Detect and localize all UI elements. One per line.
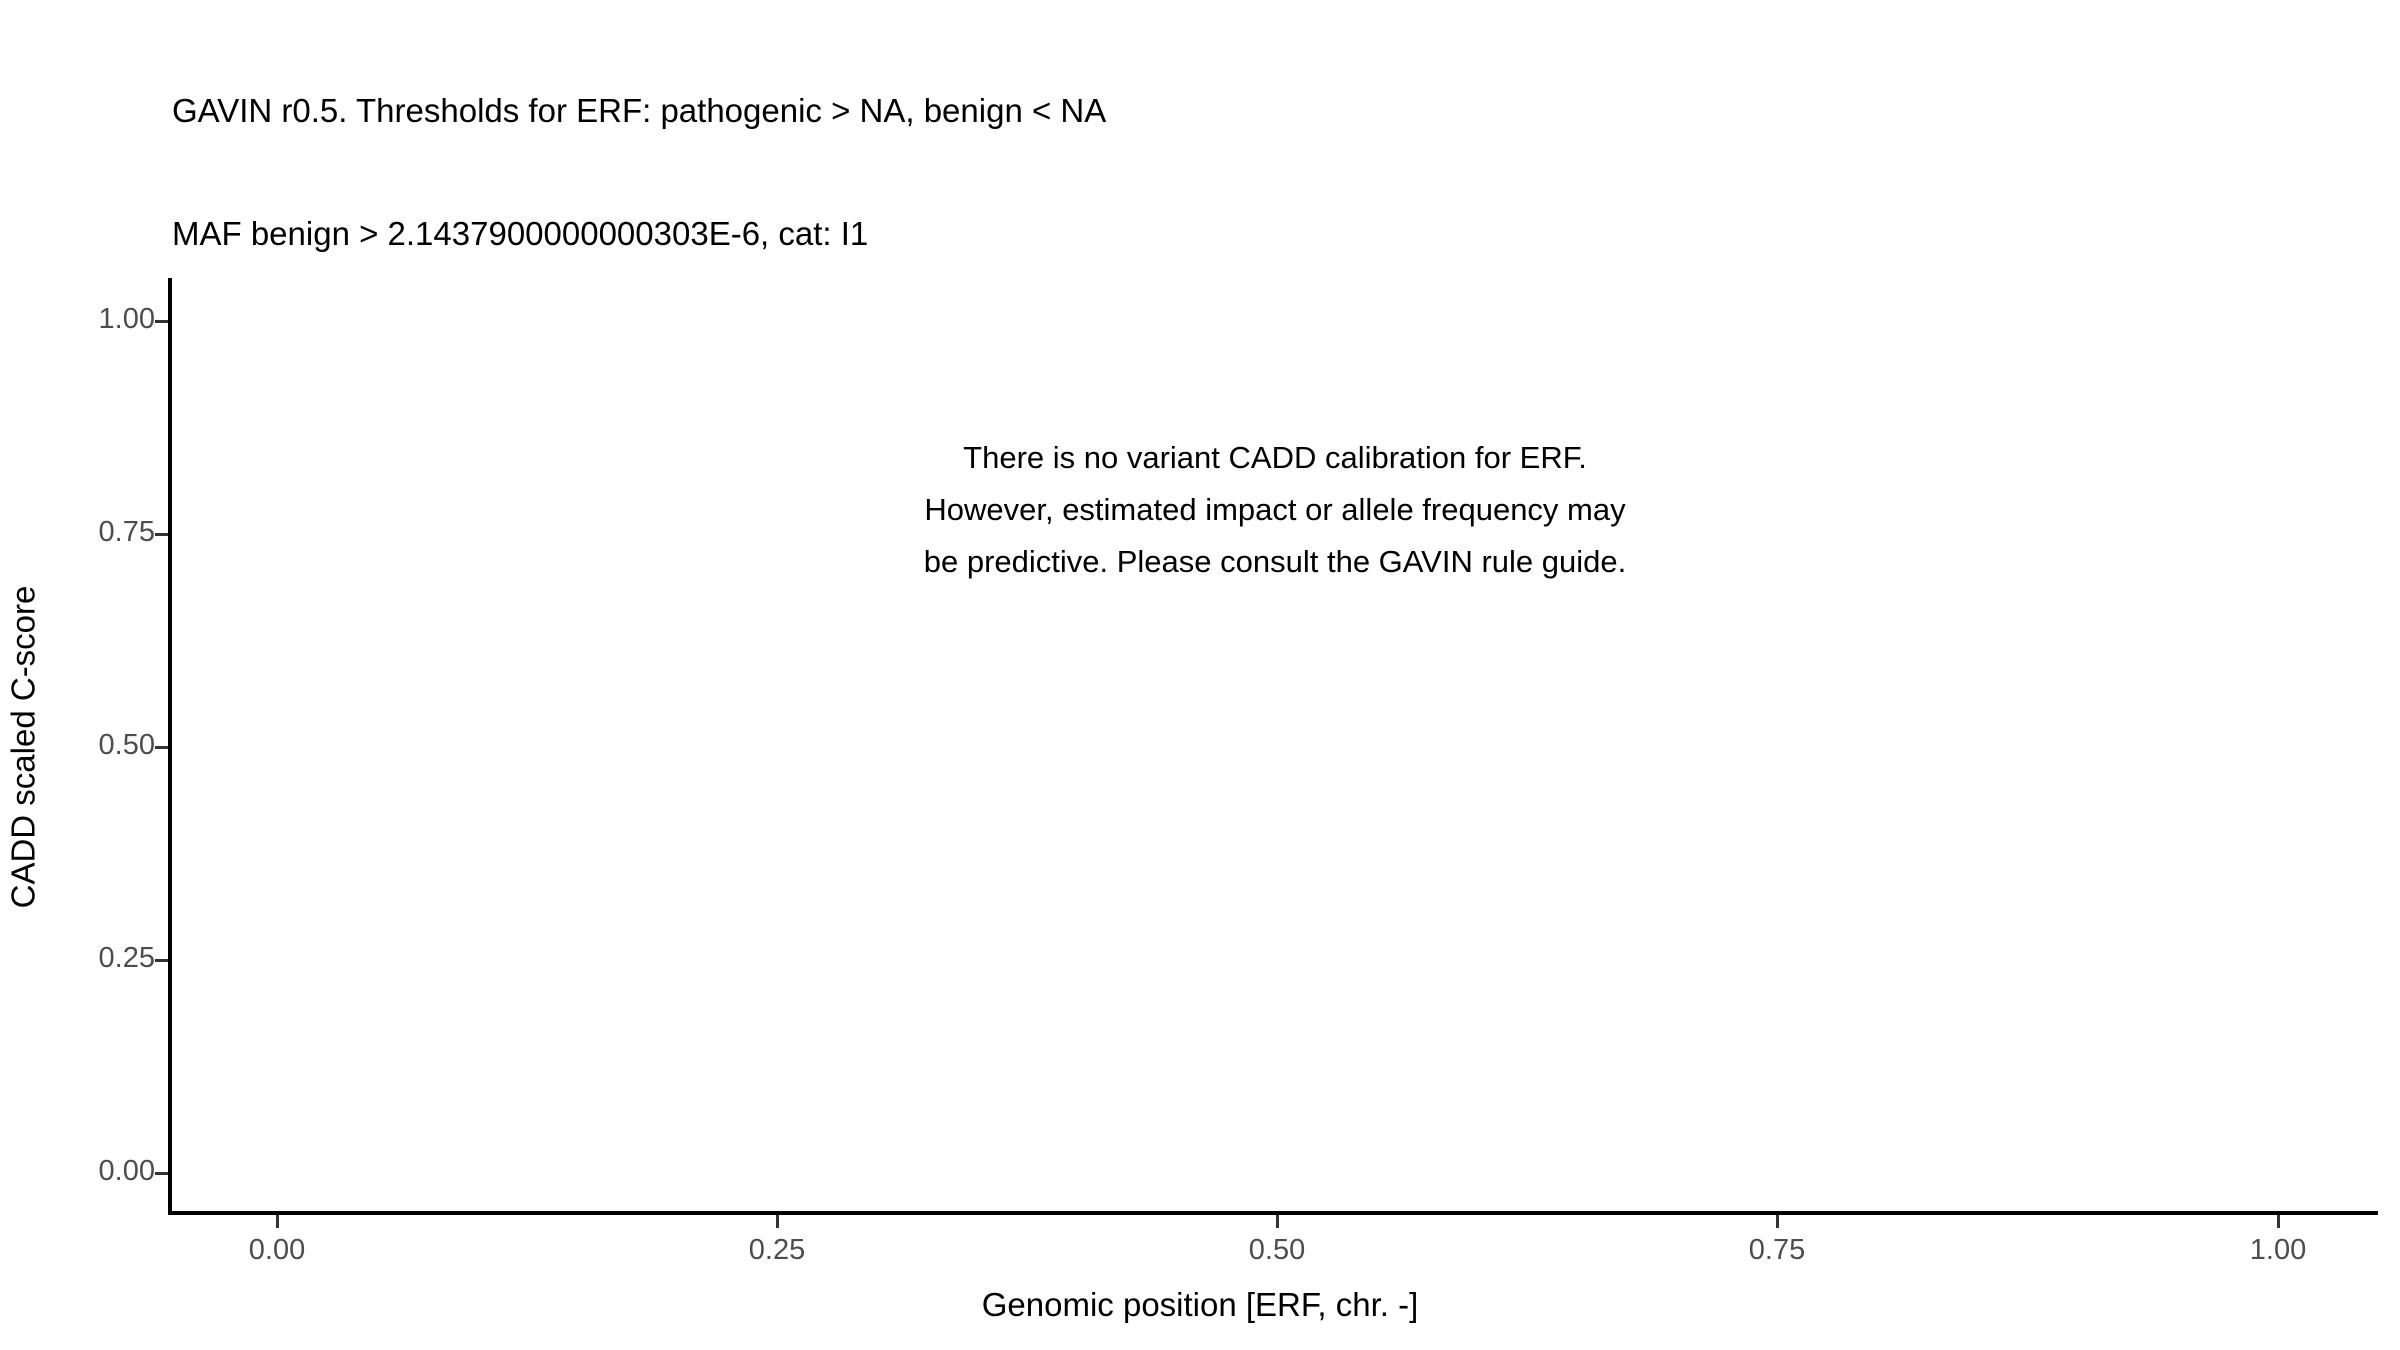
y-axis-line <box>168 278 172 1215</box>
x-axis-tick-label: 0.50 <box>1249 1234 1305 1267</box>
plot-title-line-2: MAF benign > 2.1437900000000303E-6, cat:… <box>172 213 2272 254</box>
panel-annotation-line-2: However, estimated impact or allele freq… <box>172 484 2378 536</box>
plot-title-line-1: GAVIN r0.5. Thresholds for ERF: pathogen… <box>172 90 2272 131</box>
y-axis-title-container: CADD scaled C-score <box>0 278 46 1215</box>
y-axis-tick-mark <box>155 1172 168 1175</box>
y-axis-tick-mark <box>155 959 168 962</box>
x-axis-tick-mark <box>2277 1215 2280 1228</box>
y-axis-tick-mark <box>155 320 168 323</box>
plot-figure: GAVIN r0.5. Thresholds for ERF: pathogen… <box>0 0 2400 1350</box>
x-axis-tick-mark <box>276 1215 279 1228</box>
panel-annotation-line-3: be predictive. Please consult the GAVIN … <box>172 536 2378 588</box>
x-axis-title: Genomic position [ERF, chr. -] <box>0 1286 2400 1324</box>
x-axis-tick-label: 0.00 <box>249 1234 305 1267</box>
x-axis-line <box>168 1211 2378 1215</box>
y-axis-title: CADD scaled C-score <box>4 585 42 908</box>
y-axis-tick-mark <box>155 533 168 536</box>
x-axis-tick-mark <box>776 1215 779 1228</box>
y-axis-tick-label: 0.00 <box>99 1155 155 1188</box>
x-axis-tick-mark <box>1776 1215 1779 1228</box>
y-axis-tick-label: 0.50 <box>99 729 155 762</box>
y-axis-tick-label: 1.00 <box>99 303 155 336</box>
plot-panel <box>172 278 2378 1213</box>
panel-annotation-line-1: There is no variant CADD calibration for… <box>172 432 2378 484</box>
y-axis-tick-mark <box>155 746 168 749</box>
y-axis-tick-label: 0.75 <box>99 516 155 549</box>
x-axis-tick-label: 0.75 <box>1749 1234 1805 1267</box>
x-axis-tick-label: 0.25 <box>749 1234 805 1267</box>
x-axis-tick-label: 1.00 <box>2250 1234 2306 1267</box>
y-axis-tick-label: 0.25 <box>99 942 155 975</box>
x-axis-tick-mark <box>1276 1215 1279 1228</box>
panel-annotation: There is no variant CADD calibration for… <box>172 432 2378 588</box>
